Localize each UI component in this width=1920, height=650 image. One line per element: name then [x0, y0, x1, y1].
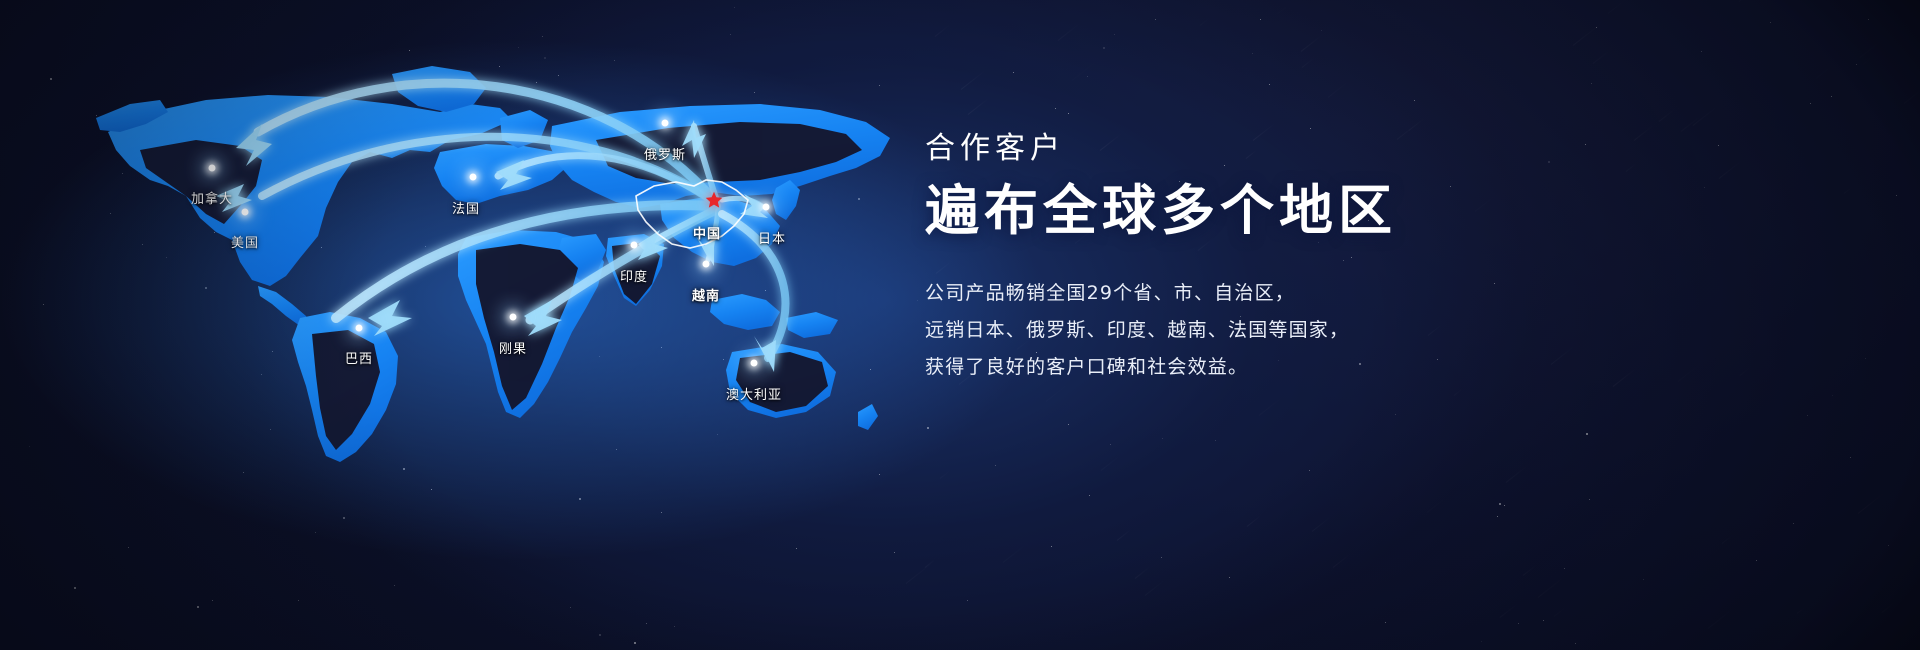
star-speck: [1856, 64, 1857, 65]
star-streak: [1523, 565, 1537, 576]
star-streak: [1858, 492, 1885, 514]
map-place-label: 印度: [620, 266, 648, 285]
star-speck: [1395, 414, 1396, 415]
star-speck: [1868, 19, 1869, 20]
star-speck: [1269, 84, 1270, 85]
star-streak: [1859, 40, 1881, 57]
star-speck: [1810, 103, 1811, 104]
star-streak: [1427, 498, 1446, 513]
star-speck: [1793, 523, 1794, 524]
star-speck: [1310, 128, 1311, 129]
map-place-label: 巴西: [345, 348, 373, 367]
star-streak: [1333, 553, 1352, 568]
star-speck: [1252, 53, 1253, 54]
star-streak: [1301, 34, 1323, 52]
star-speck: [1701, 51, 1702, 52]
star-streak: [1815, 60, 1838, 79]
star-streak: [1708, 609, 1733, 629]
star-streak: [1573, 23, 1602, 46]
star-speck: [1504, 505, 1505, 506]
star-streak: [1454, 389, 1463, 396]
map-place-label: 澳大利亚: [726, 384, 782, 403]
star-speck: [1543, 620, 1544, 621]
star-speck: [1321, 30, 1322, 31]
star-streak: [1328, 81, 1349, 97]
star-speck: [1589, 499, 1590, 500]
map-place-label: 越南: [692, 285, 720, 304]
banner-eyebrow: 合作客户: [925, 132, 1825, 165]
star-streak: [1500, 604, 1517, 618]
map-place-label: 俄罗斯: [644, 144, 686, 163]
star-speck: [1807, 415, 1808, 416]
star-speck: [1831, 96, 1832, 97]
banner-headline: 遍布全球多个地区: [925, 181, 1825, 241]
map-place-label: 刚果: [499, 338, 527, 357]
banner-body: 公司产品畅销全国29个省、市、自治区，远销日本、俄罗斯、印度、越南、法国等国家，…: [925, 275, 1825, 386]
star-streak: [1258, 396, 1283, 416]
banner-body-line: 远销日本、俄罗斯、印度、越南、法国等国家，: [925, 312, 1825, 349]
star-speck: [1596, 27, 1597, 28]
star-speck: [1499, 503, 1501, 505]
star-speck: [1575, 643, 1576, 644]
banner-body-line: 公司产品畅销全国29个省、市、自治区，: [925, 275, 1825, 312]
star-streak: [1693, 104, 1720, 126]
star-streak: [1277, 4, 1289, 14]
star-streak: [1797, 606, 1806, 613]
star-streak: [1554, 606, 1567, 617]
star-speck: [1591, 83, 1592, 84]
star-streak: [1904, 88, 1920, 104]
star-streak: [1659, 109, 1675, 122]
star-speck: [1497, 516, 1498, 517]
star-streak: [1538, 577, 1564, 598]
star-streak: [1863, 56, 1874, 65]
star-speck: [1260, 19, 1261, 20]
star-speck: [1850, 457, 1851, 458]
star-streak: [1681, 115, 1701, 131]
star-speck: [1832, 395, 1833, 396]
map-place-label: 加拿大: [191, 188, 233, 207]
star-streak: [1301, 58, 1313, 68]
star-streak: [1312, 517, 1331, 532]
star-streak: [1607, 0, 1628, 14]
star-speck: [1215, 440, 1216, 441]
star-speck: [1481, 641, 1482, 642]
star-streak: [1722, 534, 1734, 543]
star-streak: [1593, 50, 1611, 64]
star-speck: [1518, 623, 1519, 624]
star-speck: [1643, 579, 1644, 580]
map-place-label: 中国: [693, 223, 721, 242]
world-map-banner: 加拿大美国巴西法国俄罗斯中国日本印度越南刚果澳大利亚 合作客户 遍布全球多个地区…: [0, 0, 1920, 650]
star-streak: [1843, 186, 1852, 193]
star-streak: [1505, 465, 1527, 483]
star-streak: [1882, 603, 1895, 613]
star-speck: [1888, 545, 1889, 546]
star-speck: [1770, 22, 1771, 23]
banner-body-line: 获得了良好的客户口碑和社会效益。: [925, 349, 1825, 386]
star-speck: [1586, 433, 1588, 435]
star-speck: [1896, 195, 1897, 196]
map-place-label: 法国: [452, 198, 480, 217]
star-streak: [1200, 17, 1210, 25]
map-place-label: 美国: [231, 232, 259, 251]
star-speck: [1564, 568, 1565, 569]
map-place-label: 日本: [758, 228, 786, 247]
star-speck: [1309, 470, 1310, 471]
star-speck: [1229, 577, 1230, 578]
star-speck: [1385, 622, 1386, 623]
star-streak: [1739, 0, 1755, 2]
star-speck: [1414, 100, 1415, 101]
star-streak: [1409, 118, 1425, 131]
banner-copy: 合作客户 遍布全球多个地区 公司产品畅销全国29个省、市、自治区，远销日本、俄罗…: [925, 132, 1825, 386]
star-speck: [1865, 358, 1866, 359]
star-streak: [1247, 515, 1262, 527]
star-speck: [1756, 560, 1757, 561]
